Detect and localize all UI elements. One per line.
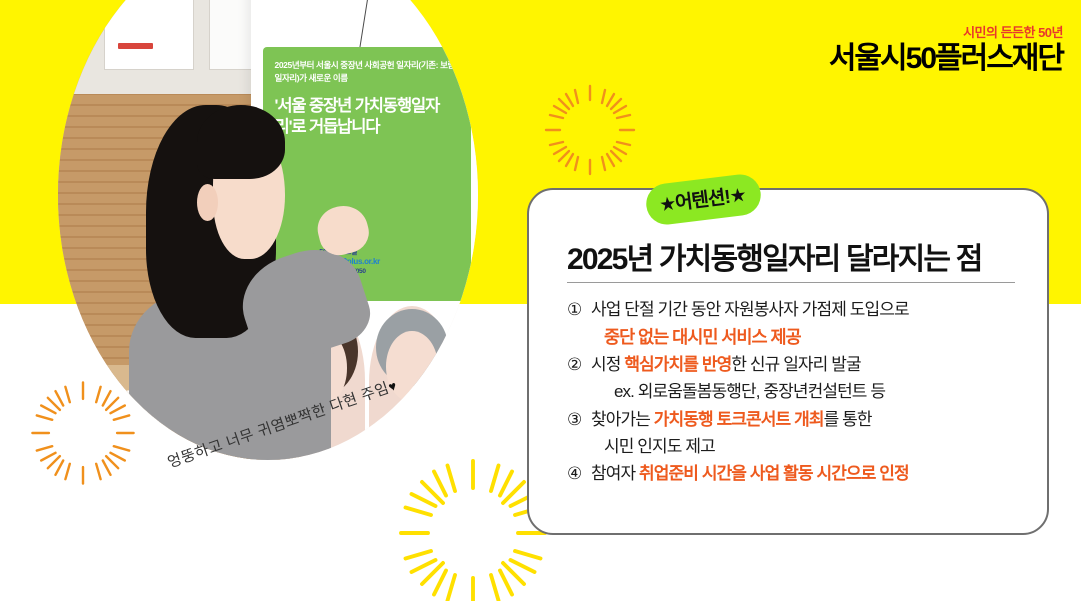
card-title: 2025년 가치동행일자리 달라지는 점 <box>567 234 982 278</box>
info-card: 2025년 가치동행일자리 달라지는 점 ① 사업 단절 기간 동안 자원봉사자… <box>527 188 1049 535</box>
list-item: ④ 참여자 취업준비 시간을 사업 활동 시간으로 인정 <box>567 462 1017 486</box>
list-item-text-before: 시정 <box>591 355 624 374</box>
sunburst-yellow-bottom-icon <box>398 458 548 601</box>
list-item: ② 시정 핵심가치를 반영한 신규 일자리 발굴 <box>567 353 1017 377</box>
list-item-text: 사업 단절 기간 동안 자원봉사자 가점제 도입으로 <box>591 298 1017 322</box>
list-item-text-after: 한 신규 일자리 발굴 <box>731 355 860 374</box>
list-item: ③ 찾아가는 가치동행 토크콘서트 개최를 통한 <box>567 408 1017 432</box>
list-item-text-before: 찾아가는 <box>591 410 654 429</box>
poster-canvas: 서울 중장년 가치동행일자리 2025년부터 서울시 중장년 사회공헌 일자리(… <box>0 0 1081 601</box>
changes-list: ① 사업 단절 기간 동안 자원봉사자 가점제 도입으로 중단 없는 대시민 서… <box>567 298 1017 489</box>
list-item-highlight-text: 중단 없는 대시민 서비스 제공 <box>604 327 801 347</box>
list-item-number: ① <box>567 298 591 322</box>
foundation-logo: 시민의 든든한 50년 서울시50플러스재단 <box>829 26 1063 74</box>
person-ear <box>197 184 218 221</box>
brand-tagline: 시민의 든든한 50년 <box>829 26 1063 39</box>
list-item-subtext: 시민 인지도 제고 <box>567 435 1017 459</box>
sunburst-orange-top-icon <box>540 80 640 180</box>
list-item-highlight: 중단 없는 대시민 서비스 제공 <box>567 325 1017 350</box>
list-item-highlight-text: 가치동행 토크콘서트 개최 <box>654 410 824 429</box>
list-item: ① 사업 단절 기간 동안 자원봉사자 가점제 도입으로 <box>567 298 1017 322</box>
banner-green-big-text: '서울 중장년 가치동행일자리'로 거듭납니다 <box>275 96 462 138</box>
list-item-number: ④ <box>567 462 591 486</box>
list-item-text-after: 를 통한 <box>824 410 872 429</box>
list-item-text: 시정 핵심가치를 반영한 신규 일자리 발굴 <box>591 353 1017 377</box>
list-item-number: ③ <box>567 408 591 432</box>
list-item-text: 참여자 취업준비 시간을 사업 활동 시간으로 인정 <box>591 462 1017 486</box>
photo-circle: 서울 중장년 가치동행일자리 2025년부터 서울시 중장년 사회공헌 일자리(… <box>58 0 478 460</box>
brand-name: 서울시50플러스재단 <box>829 44 1063 74</box>
office-photo: 서울 중장년 가치동행일자리 2025년부터 서울시 중장년 사회공헌 일자리(… <box>58 0 478 460</box>
list-item-number: ② <box>567 353 591 377</box>
wall-notice-left <box>104 0 194 70</box>
list-item-highlight-text: 취업준비 시간을 사업 활동 시간으로 인정 <box>639 464 909 483</box>
list-item-subtext: ex. 외로움돌봄동행단, 중장년컨설턴트 등 <box>567 380 1017 404</box>
person-bangs <box>197 105 285 179</box>
card-divider <box>567 282 1015 283</box>
list-item-text-before: 참여자 <box>591 464 639 483</box>
list-item-highlight-text: 핵심가치를 반영 <box>624 355 731 374</box>
list-item-text: 찾아가는 가치동행 토크콘서트 개최를 통한 <box>591 408 1017 432</box>
banner-green-small-text: 2025년부터 서울시 중장년 사회공헌 일자리(기존: 보람일자리)가 새로운… <box>275 59 462 85</box>
